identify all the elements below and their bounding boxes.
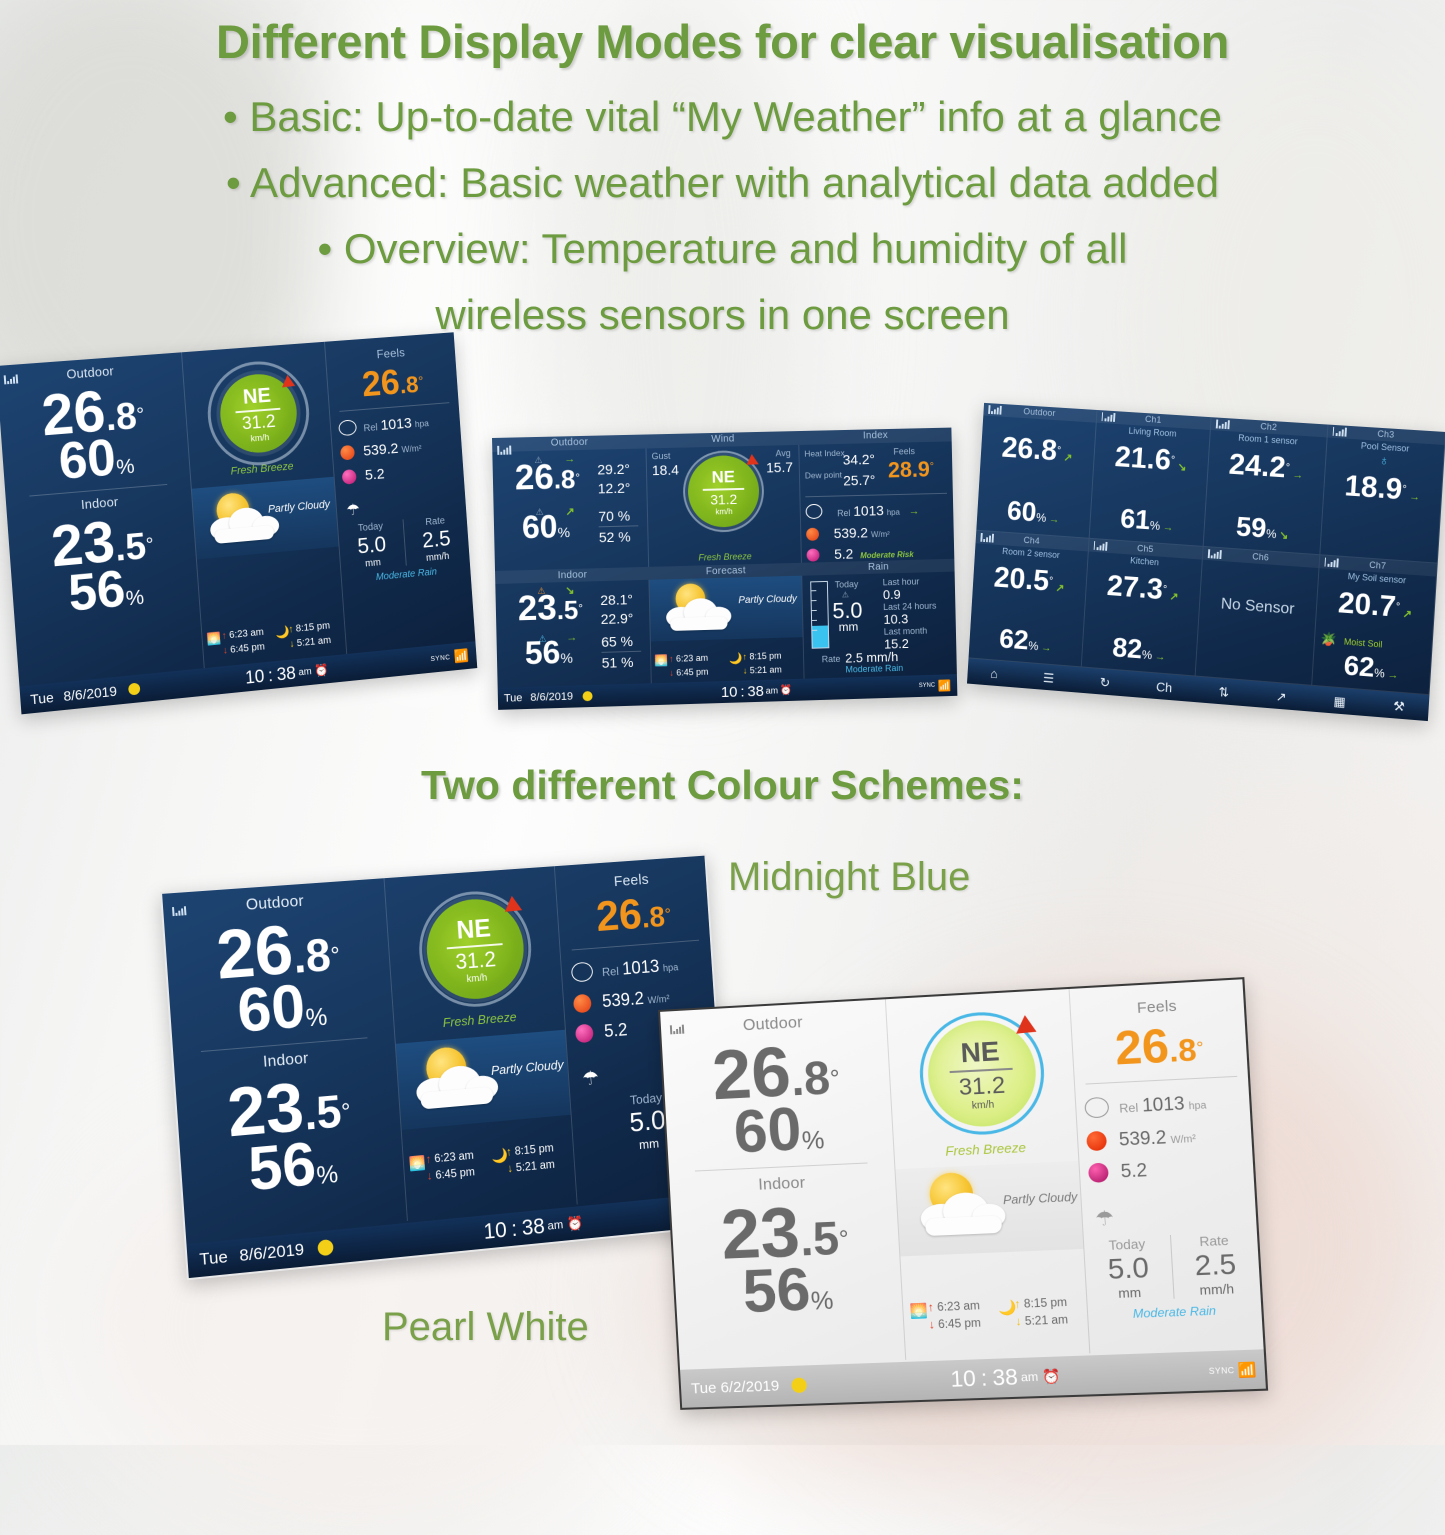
- basic-indoor-deg: °: [145, 535, 154, 557]
- advanced-pressure-label: Rel: [837, 508, 850, 518]
- records-search-icon[interactable]: ☰: [1043, 671, 1055, 685]
- midnight-footer-day: Tue: [199, 1247, 229, 1270]
- solar-radiation-icon: [340, 445, 355, 461]
- rain-gauge-icon: [810, 581, 829, 649]
- midnight-wind-dial[interactable]: NE 31.2 km/h: [415, 888, 534, 1011]
- pearl-sunset: 6:45 pm: [938, 1317, 981, 1331]
- midnight-uv-icon: [575, 1024, 594, 1044]
- basic-feels-temp: 26: [361, 362, 401, 405]
- advanced-feels-label: Feels: [893, 446, 915, 456]
- basic-footer-date: 8/6/2019: [63, 683, 117, 704]
- pearl-wind-speed: 31.2: [958, 1071, 1006, 1101]
- advanced-feels-value: 28.9: [888, 457, 930, 483]
- basic-sync-label: SYNC: [430, 654, 450, 663]
- midnight-wind-direction: NE: [455, 913, 491, 946]
- basic-footer-ampm: am: [298, 666, 312, 678]
- pearl-pressure-value: 1013: [1142, 1093, 1185, 1116]
- advanced-index-panel: Heat Index 34.2° Dew point 25.7° Feels 2…: [799, 441, 954, 562]
- advanced-rain-last-24-label: Last 24 hours: [883, 601, 936, 612]
- advanced-footer-time-min: 38: [747, 682, 764, 699]
- advanced-moon-phase-icon: [583, 691, 593, 701]
- basic-indoor-humidity-unit: %: [125, 586, 145, 610]
- overview-cell-outdoor[interactable]: Outdoor26.8°↗60%→: [976, 403, 1097, 539]
- midnight-moonrise-arrow-icon: ↑: [506, 1146, 512, 1158]
- advanced-avg-label: Avg: [775, 448, 790, 458]
- advanced-rain-last-hour: 0.9: [883, 587, 901, 602]
- advanced-moonset-arrow-icon: ↓: [743, 665, 748, 675]
- midnight-sunset-arrow-icon: ↓: [427, 1170, 433, 1182]
- basic-wind-unit: km/h: [250, 432, 269, 443]
- advanced-heat-index-label: Heat Index: [804, 449, 845, 459]
- advanced-feels-deg: °: [930, 461, 935, 473]
- pearl-rain-umbrella-icon: ☂: [1082, 1199, 1256, 1232]
- pearl-footer-time-hour: 10: [950, 1366, 977, 1393]
- overview-cell-ch7[interactable]: Ch7My Soil sensor20.7°↗Moist Soil🪴62%→: [1312, 555, 1438, 695]
- midnight-sunset: 6:45 pm: [435, 1166, 475, 1181]
- advanced-wind-panel: Gust 18.4 Avg 15.7 NE 31.2 km/h Fresh Br…: [646, 445, 801, 567]
- advanced-uv-icon: [807, 549, 820, 562]
- advanced-moonset: 5:21 am: [750, 664, 782, 675]
- advanced-rain-last-hour-label: Last hour: [883, 576, 920, 587]
- graph-icon[interactable]: ↗: [1276, 689, 1287, 703]
- midnight-pressure-unit: hpa: [663, 963, 679, 975]
- advanced-forecast-text: Partly Cloudy: [738, 594, 797, 608]
- pearl-sync-label: SYNC: [1209, 1365, 1235, 1375]
- pearl-outdoor-hum: 60: [732, 1095, 803, 1166]
- midnight-wind-desc: Fresh Breeze: [394, 1006, 564, 1034]
- midnight-moonset: 5:21 am: [515, 1159, 555, 1174]
- advanced-solar-value: 539.2: [834, 524, 869, 541]
- pearl-rain-rate-unit: mm/h: [1173, 1279, 1260, 1298]
- midnight-partly-cloudy-icon: [408, 1040, 512, 1123]
- page-title: Different Display Modes for clear visual…: [0, 0, 1445, 69]
- moon-phase-icon: [128, 683, 141, 696]
- pearl-sunrise-arrow-icon: ↑: [928, 1301, 935, 1313]
- midnight-pressure-label: Rel: [602, 964, 620, 979]
- pearl-wind-unit: km/h: [972, 1099, 995, 1111]
- advanced-indoor-hum-unit: %: [560, 650, 573, 666]
- basic-sunset: 6:45 pm: [230, 642, 265, 656]
- advanced-wind-desc: Fresh Breeze: [649, 550, 801, 564]
- midnight-barometer-icon: [571, 962, 594, 983]
- basic-feels-temp-dec: .8: [399, 372, 419, 399]
- midnight-moonrise: 8:15 pm: [514, 1142, 554, 1157]
- pearl-footer-time-sep: :: [980, 1365, 988, 1392]
- label-midnight-blue: Midnight Blue: [728, 855, 970, 900]
- pearl-barometer-icon: [1084, 1097, 1109, 1119]
- advanced-moonrise: 8:15 pm: [749, 651, 781, 662]
- pearl-footer-date: Tue 6/2/2019: [691, 1377, 780, 1397]
- advanced-outdoor-hum-hi: 70 %: [598, 508, 630, 525]
- midnight-alarm-icon: ⏰: [566, 1214, 583, 1232]
- advanced-outdoor-hum-unit: %: [557, 524, 570, 540]
- basic-pressure-value: 1013: [380, 415, 412, 434]
- overview-humidity: 82%→: [1082, 629, 1197, 669]
- overview-temperature: 24.2°→: [1208, 447, 1325, 488]
- advanced-sunrise: 6:23 am: [676, 653, 708, 664]
- overview-temperature: 21.6°↘: [1093, 439, 1209, 480]
- advanced-footer-day: Tue: [504, 692, 523, 705]
- alarm-icon: ⏰: [314, 663, 329, 678]
- pearl-wifi-icon: 📶: [1237, 1360, 1257, 1378]
- overview-humidity: 61%→: [1090, 501, 1205, 540]
- basic-mode-display[interactable]: Outdoor 26.8° 60% Indoor 23.5° 56% NE: [0, 332, 477, 714]
- advanced-heat-index-value: 34.2°: [843, 451, 875, 468]
- pearl-pressure-unit: hpa: [1188, 1100, 1206, 1112]
- wifi-icon: 📶: [454, 648, 470, 665]
- advanced-alarm-icon: ⏰: [780, 685, 792, 696]
- advanced-outdoor-hum-lo: 52 %: [599, 529, 631, 546]
- overview-cell-ch3[interactable]: Ch3Pool Sensor♁18.9°→: [1320, 425, 1445, 564]
- pearl-wind-direction: NE: [960, 1035, 1001, 1069]
- basic-pressure-label: Rel: [363, 422, 378, 434]
- advanced-forecast-panel: Partly Cloudy 🌅 ↑ 6:23 am ↓ 6:45 pm 🌙 ↑ …: [649, 576, 804, 685]
- advanced-avg-value: 15.7: [766, 459, 793, 475]
- pearl-uv-value: 5.2: [1120, 1160, 1147, 1182]
- midnight-footer-time-sep: :: [511, 1216, 518, 1242]
- overview-cell-ch1[interactable]: Ch1Living Room21.6°↘61%→: [1089, 410, 1212, 547]
- pearl-rain-today-unit: mm: [1087, 1283, 1173, 1302]
- bullet-basic: • Basic: Up-to-date vital “My Weather” i…: [0, 91, 1445, 143]
- midnight-feels-temp: 26: [595, 890, 643, 941]
- midnight-solar-value: 539.2: [602, 988, 645, 1011]
- advanced-outdoor-temp-lo: 12.2°: [598, 480, 631, 497]
- pearl-moon-icon: 🌙: [998, 1296, 1017, 1332]
- overview-humidity: 59%↘: [1204, 509, 1321, 549]
- advanced-indoor-temp-dec: .5: [556, 595, 578, 626]
- midnight-footer-time-min: 38: [521, 1214, 546, 1241]
- advanced-outdoor-hum: 60: [522, 508, 558, 545]
- overview-humidity: 62%→: [1312, 647, 1431, 688]
- advanced-outdoor-panel: ⚠ → 26.8° 29.2° 12.2° ⚠ ↗ 60% 70 % 52 %: [492, 448, 649, 571]
- advanced-rain-today-label: Today: [835, 579, 859, 590]
- pearl-forecast-text: Partly Cloudy: [1003, 1190, 1078, 1208]
- bullet-advanced: • Advanced: Basic weather with analytica…: [0, 157, 1445, 209]
- basic-outdoor-humidity-unit: %: [116, 455, 136, 479]
- sunset-arrow-icon: ↓: [222, 645, 228, 656]
- advanced-partly-cloudy-icon: [659, 581, 745, 639]
- advanced-indoor-temp-hi: 28.1°: [600, 591, 633, 608]
- pearl-sunrise: 6:23 am: [937, 1300, 980, 1314]
- advanced-indoor-hum-hi: 65 %: [601, 633, 633, 650]
- bullet-overview-line2: wireless sensors in one screen: [0, 289, 1445, 341]
- pearl-moonset: 5:21 am: [1025, 1314, 1069, 1328]
- advanced-rain-today-unit: mm: [839, 620, 859, 634]
- pearl-moon-phase-icon: [791, 1377, 807, 1393]
- uv-index-icon: [342, 469, 357, 485]
- pearl-alarm-icon: ⏰: [1042, 1367, 1061, 1385]
- advanced-footer-time-hour: 10: [721, 683, 738, 700]
- basic-sunrise: 6:23 am: [229, 627, 264, 641]
- advanced-wind-unit: km/h: [715, 507, 732, 516]
- basic-wind-direction: NE: [242, 384, 271, 410]
- partly-cloudy-icon: [202, 487, 288, 553]
- advanced-pressure-trend-icon: →: [909, 503, 920, 520]
- pearl-white-display[interactable]: Outdoor 26.8° 60% Indoor 23.5° 56% NE: [658, 977, 1268, 1410]
- wind-dial[interactable]: NE 31.2 km/h: [211, 365, 305, 462]
- basic-moonset: 5:21 am: [297, 635, 332, 649]
- pearl-solar-value: 539.2: [1118, 1126, 1167, 1149]
- advanced-indoor-panel: ⚠ ↘ 23.5° 28.1° 22.9° ⚠ → 56% 65 % 51 %: [495, 580, 652, 689]
- overview-cell-ch6[interactable]: Ch6No Sensor: [1196, 547, 1320, 686]
- overview-soil-label: Moist Soil: [1344, 637, 1383, 650]
- pearl-partly-cloudy-icon: [912, 1168, 1022, 1250]
- pearl-moonset-arrow-icon: ↓: [1015, 1316, 1022, 1328]
- pearl-moonrise-arrow-icon: ↑: [1014, 1298, 1021, 1310]
- advanced-footer-ampm: am: [766, 685, 779, 695]
- overview-mode-display[interactable]: Outdoor26.8°↗60%→Ch1Living Room21.6°↘61%…: [967, 403, 1445, 721]
- basic-uv-value: 5.2: [364, 465, 385, 483]
- advanced-wifi-icon: 📶: [938, 679, 952, 692]
- moonset-arrow-icon: ↓: [289, 639, 295, 650]
- pearl-sun-icon: 🌅: [909, 1300, 929, 1336]
- overview-temperature: 20.5°↗: [973, 560, 1087, 601]
- midnight-footer-ampm: am: [547, 1218, 563, 1233]
- pearl-footer-time-min: 38: [992, 1364, 1019, 1391]
- basic-outdoor-deg: °: [136, 404, 145, 426]
- basic-feels-deg: °: [418, 373, 424, 389]
- midnight-sunrise: 6:23 am: [434, 1149, 474, 1164]
- overview-temperature: 20.7°↗: [1316, 585, 1435, 627]
- advanced-dew-point-label: Dew point: [805, 471, 842, 481]
- advanced-wind-direction: NE: [711, 467, 735, 487]
- midnight-solar-icon: [573, 993, 592, 1013]
- basic-pressure-unit: hpa: [415, 418, 430, 429]
- basic-footer-day: Tue: [30, 689, 54, 707]
- advanced-sunset-arrow-icon: ↓: [669, 667, 674, 677]
- minmax-icon[interactable]: ⇅: [1218, 685, 1229, 699]
- overview-temperature: 26.8°↗: [980, 430, 1094, 470]
- advanced-footer-date: 8/6/2019: [530, 691, 573, 704]
- midnight-uv-value: 5.2: [604, 1020, 628, 1041]
- advanced-dew-point-value: 25.7°: [843, 472, 875, 489]
- pearl-sunset-arrow-icon: ↓: [929, 1319, 936, 1331]
- basic-footer-time-hour: 10: [245, 666, 266, 688]
- midnight-footer-time-hour: 10: [483, 1217, 508, 1245]
- pearl-solar-icon: [1086, 1130, 1107, 1150]
- bullet-overview: • Overview: Temperature and humidity of …: [0, 223, 1445, 275]
- barometer-icon: [338, 419, 357, 436]
- advanced-gust-value: 18.4: [652, 462, 679, 479]
- overview-humidity: 60%→: [977, 493, 1091, 532]
- midnight-moonset-arrow-icon: ↓: [507, 1163, 513, 1175]
- pearl-rain-desc: Moderate Rain: [1088, 1301, 1262, 1322]
- pearl-outdoor-hum-unit: %: [801, 1126, 825, 1155]
- advanced-sun-icon: 🌅: [654, 653, 669, 680]
- basic-indoor-humidity: 56: [66, 560, 127, 623]
- midnight-wind-speed: 31.2: [455, 947, 497, 975]
- advanced-outdoor-temp-hi: 29.2°: [597, 461, 630, 478]
- pearl-feels-divider: [1085, 1076, 1237, 1085]
- midnight-feels-temp-dec: .8: [641, 901, 666, 934]
- advanced-barometer-icon: [806, 504, 823, 519]
- moonrise-arrow-icon: ↑: [288, 624, 294, 635]
- basic-footer-time-min: 38: [276, 663, 296, 685]
- basic-moonrise: 8:15 pm: [295, 621, 330, 635]
- overview-no-sensor: No Sensor: [1200, 594, 1316, 621]
- advanced-indoor-temp: 23: [517, 588, 557, 628]
- advanced-wind-dial[interactable]: NE 31.2 km/h: [684, 452, 763, 531]
- midnight-indoor-hum-unit: %: [316, 1160, 339, 1190]
- advanced-indoor-temp-lo: 22.9°: [601, 610, 634, 627]
- colour-schemes-title: Two different Colour Schemes:: [0, 762, 1445, 809]
- advanced-solar-unit: W/m²: [871, 530, 890, 539]
- pearl-rain-rate: 2.5: [1171, 1246, 1259, 1282]
- overview-cell-ch5[interactable]: Ch5Kitchen27.3°↗82%→: [1081, 539, 1203, 677]
- midnight-solar-unit: W/m²: [647, 994, 670, 1006]
- midnight-indoor-hum: 56: [246, 1130, 318, 1204]
- pearl-uv-icon: [1088, 1163, 1109, 1183]
- midnight-outdoor-hum: 60: [235, 973, 307, 1047]
- pearl-moonrise: 8:15 pm: [1024, 1296, 1068, 1310]
- advanced-outdoor-temp: 26: [514, 458, 554, 498]
- advanced-uv-value: 5.2: [834, 546, 853, 562]
- advanced-mode-display[interactable]: Outdoor Wind Index ⚠ → 26.8° 29.2° 12.2°…: [492, 428, 957, 710]
- calendar-icon[interactable]: ▦: [1333, 694, 1346, 708]
- advanced-sunrise-arrow-icon: ↑: [669, 654, 674, 664]
- pearl-wind-desc: Fresh Breeze: [894, 1137, 1078, 1161]
- basic-wind-speed: 31.2: [241, 411, 276, 434]
- advanced-moon-icon: 🌙: [729, 651, 743, 678]
- advanced-rain-panel: Today ⚠ 5.0 mm Last hour 0.9 Last 24 hou…: [802, 572, 957, 680]
- overview-temperature: 27.3°↗: [1085, 568, 1201, 610]
- advanced-sunset: 6:45 pm: [676, 666, 708, 677]
- midnight-footer-date: 8/6/2019: [239, 1240, 305, 1266]
- sunrise-arrow-icon: ↑: [221, 631, 227, 642]
- advanced-pressure-value: 1013: [853, 502, 884, 519]
- advanced-footer-time-sep: :: [740, 683, 744, 700]
- headline-block: Different Display Modes for clear visual…: [0, 0, 1445, 341]
- advanced-outdoor-temp-dec: .8: [553, 464, 575, 494]
- advanced-solar-icon: [806, 527, 819, 540]
- basic-footer-time-sep: :: [267, 665, 273, 686]
- basic-solar-unit: W/m²: [401, 443, 422, 454]
- home-icon[interactable]: ⌂: [990, 666, 998, 679]
- pearl-wind-dial[interactable]: NE 31.2 km/h: [916, 1009, 1047, 1137]
- overview-humidity: 62%→: [969, 621, 1083, 661]
- sync-icon[interactable]: ↻: [1099, 675, 1110, 689]
- settings-wrench-icon[interactable]: ⚒: [1393, 699, 1405, 713]
- advanced-rain-rate-label: Rate: [822, 654, 841, 664]
- pearl-solar-unit: W/m²: [1170, 1133, 1196, 1146]
- pearl-pressure-label: Rel: [1119, 1100, 1139, 1115]
- advanced-wind-speed: 31.2: [710, 491, 737, 508]
- pearl-footer-ampm: am: [1020, 1370, 1038, 1385]
- pearl-indoor-hum: 56: [741, 1255, 812, 1325]
- midnight-moon-phase-icon: [317, 1239, 334, 1256]
- pearl-feels-temp: 26: [1113, 1019, 1170, 1075]
- advanced-indoor-hum-lo: 51 %: [602, 654, 634, 671]
- midnight-blue-display[interactable]: Outdoor 26.8° 60% Indoor 23.5° 56% NE: [160, 854, 731, 1281]
- advanced-pressure-unit: hpa: [887, 508, 900, 517]
- label-pearl-white: Pearl White: [382, 1305, 589, 1350]
- pearl-rain-today: 5.0: [1085, 1250, 1172, 1286]
- overview-temperature: 18.9°→: [1323, 468, 1442, 510]
- advanced-rain-last-24: 10.3: [883, 611, 908, 627]
- midnight-outdoor-hum-unit: %: [305, 1003, 328, 1032]
- channel-icon[interactable]: Ch: [1156, 680, 1173, 694]
- advanced-rain-desc: Moderate Rain: [845, 663, 903, 675]
- basic-solar-value: 539.2: [363, 440, 399, 459]
- advanced-indoor-hum: 56: [524, 634, 560, 671]
- midnight-pressure-value: 1013: [622, 956, 660, 978]
- advanced-sync-label: SYNC: [919, 683, 935, 689]
- advanced-gust-label: Gust: [652, 451, 671, 461]
- plant-soil-icon: 🪴: [1320, 631, 1337, 648]
- midnight-sunrise-arrow-icon: ↑: [425, 1153, 431, 1165]
- pearl-feels-temp-dec: .8: [1168, 1031, 1197, 1068]
- overview-cell-ch2[interactable]: Ch2Room 1 sensor24.2°→59%↘: [1204, 417, 1328, 555]
- overview-cell-ch4[interactable]: Ch4Room 2 sensor20.5°↗62%→: [969, 531, 1090, 668]
- pearl-indoor-hum-unit: %: [810, 1286, 834, 1315]
- advanced-moonrise-arrow-icon: ↑: [742, 652, 747, 662]
- midnight-wind-unit: km/h: [466, 973, 487, 985]
- basic-outdoor-humidity: 60: [57, 429, 118, 491]
- advanced-rain-last-month-label: Last month: [884, 626, 928, 637]
